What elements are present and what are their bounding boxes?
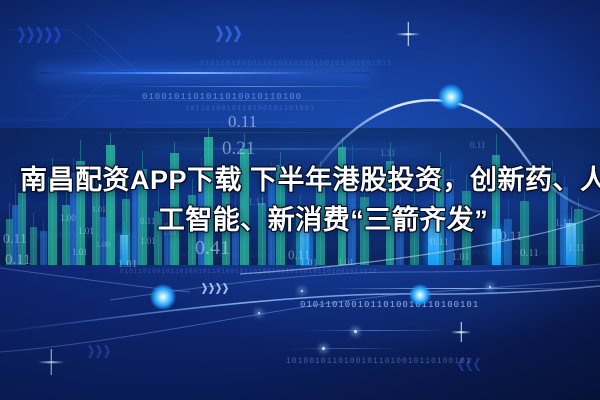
binary-row: 010110100101101001011010010110100101 (300, 300, 480, 310)
binary-row: 0101101001011010010110100101101001011010… (200, 60, 390, 68)
chevron-right-icon (202, 283, 228, 294)
page-title: 南昌配资APP下载 下半年港股投资，创新药、人 工智能、新消费“三箭齐发” (0, 160, 600, 240)
headline-line-1: 南昌配资APP下载 下半年港股投资，创新药、人 (8, 160, 592, 200)
light-streak (300, 330, 450, 331)
light-streak (40, 72, 370, 74)
chevron-right-icon (88, 345, 110, 358)
binary-row: 0101101001011010010110100101101001011010… (120, 268, 380, 275)
chevron-right-icon (216, 26, 241, 42)
light-streak (330, 288, 580, 289)
binary-row: 1011010010110100101101001011010010110100… (185, 105, 315, 113)
light-streak (90, 100, 390, 101)
binary-row: 1010010110100101101001011010010110100101… (286, 357, 471, 366)
binary-row: 0100101101011010010110100101101001011010… (142, 92, 302, 102)
sparkle-top-icon (396, 22, 420, 46)
glow-dot (354, 330, 357, 333)
mid-line-node (150, 284, 176, 310)
banner-image: 0100101101011010010110100101101001011010… (0, 0, 600, 400)
glow-dot (301, 290, 303, 292)
glow-dot (322, 347, 325, 350)
glow-dot (258, 312, 260, 314)
chevron-right-icon (18, 27, 61, 43)
headline-line-2: 工智能、新消费“三箭齐发” (8, 200, 592, 240)
light-streak (120, 86, 380, 87)
sparkle-right-icon (451, 322, 471, 342)
right-line-node (409, 284, 431, 306)
chevron-left-icon (458, 358, 480, 371)
curve-peak-node (438, 84, 464, 110)
glow-dot (489, 286, 491, 288)
sparkle-bottom-icon (38, 349, 64, 375)
light-streak (290, 348, 400, 349)
